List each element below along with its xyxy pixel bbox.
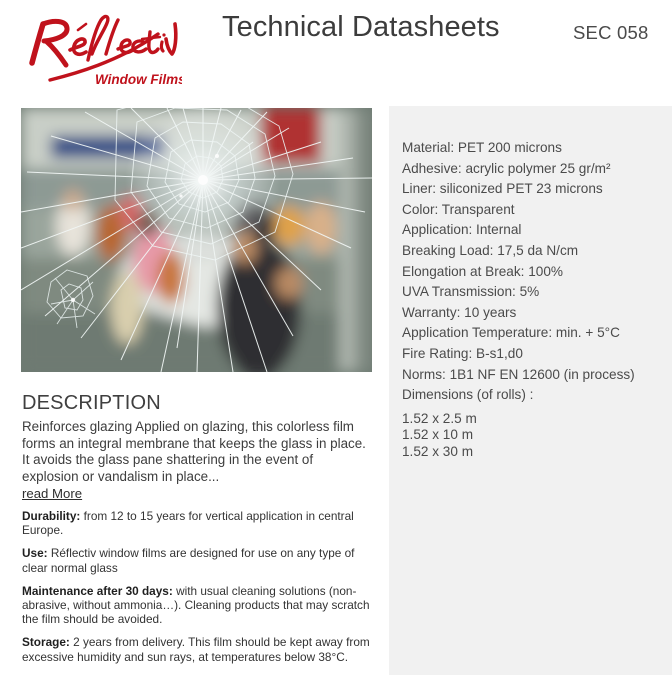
spec-item-breaking-load: Breaking Load: 17,5 da N/cm: [402, 241, 666, 262]
note-use-text: Réflectiv window films are designed for …: [22, 546, 354, 574]
spec-item-fire-rating: Fire Rating: B-s1,d0: [402, 344, 666, 365]
note-maintenance-label: Maintenance after 30 days:: [22, 584, 173, 598]
spec-item-uva: UVA Transmission: 5%: [402, 282, 666, 303]
note-use: Use: Réflectiv window films are designed…: [22, 546, 374, 574]
specifications-panel: Material: PET 200 microns Adhesive: acry…: [389, 106, 672, 675]
dimension-roll-2: 1.52 x 10 m: [402, 427, 666, 443]
spec-item-dimensions-label: Dimensions (of rolls) :: [402, 385, 666, 406]
spec-item-adhesive: Adhesive: acrylic polymer 25 gr/m²: [402, 159, 666, 180]
spec-item-liner: Liner: siliconized PET 23 microns: [402, 179, 666, 200]
note-durability-label: Durability:: [22, 509, 80, 523]
spec-item-app-temperature: Application Temperature: min. + 5°C: [402, 323, 666, 344]
spec-item-elongation: Elongation at Break: 100%: [402, 262, 666, 283]
datasheet-page: Window Films Technical Datasheets SEC 05…: [0, 0, 672, 675]
description-text: Reinforces glazing Applied on glazing, t…: [22, 419, 370, 485]
note-durability: Durability: from 12 to 15 years for vert…: [22, 509, 374, 537]
read-more-link[interactable]: read More: [22, 486, 82, 501]
spec-item-color: Color: Transparent: [402, 200, 666, 221]
specifications-list: Material: PET 200 microns Adhesive: acry…: [402, 138, 666, 460]
product-photo: [21, 108, 372, 372]
spec-item-warranty: Warranty: 10 years: [402, 303, 666, 324]
dimension-roll-3: 1.52 x 30 m: [402, 444, 666, 460]
datasheet-code: SEC 058: [573, 22, 648, 44]
page-header: Window Films Technical Datasheets SEC 05…: [0, 0, 672, 106]
dimension-roll-1: 1.52 x 2.5 m: [402, 411, 666, 427]
note-storage-text: 2 years from delivery. This film should …: [22, 635, 370, 663]
logo-tagline: Window Films: [95, 72, 182, 87]
reflectiv-logo[interactable]: Window Films: [22, 8, 182, 90]
note-maintenance: Maintenance after 30 days: with usual cl…: [22, 584, 374, 627]
notes-section: Durability: from 12 to 15 years for vert…: [22, 509, 374, 673]
note-storage: Storage: 2 years from delivery. This fil…: [22, 635, 374, 663]
spec-item-norms: Norms: 1B1 NF EN 12600 (in process): [402, 365, 666, 386]
note-storage-label: Storage:: [22, 635, 70, 649]
description-heading: DESCRIPTION: [22, 392, 161, 415]
page-title: Technical Datasheets: [222, 11, 500, 44]
spec-item-material: Material: PET 200 microns: [402, 138, 666, 159]
note-use-label: Use:: [22, 546, 48, 560]
dimensions-list: 1.52 x 2.5 m 1.52 x 10 m 1.52 x 30 m: [402, 411, 666, 460]
spec-item-application: Application: Internal: [402, 220, 666, 241]
